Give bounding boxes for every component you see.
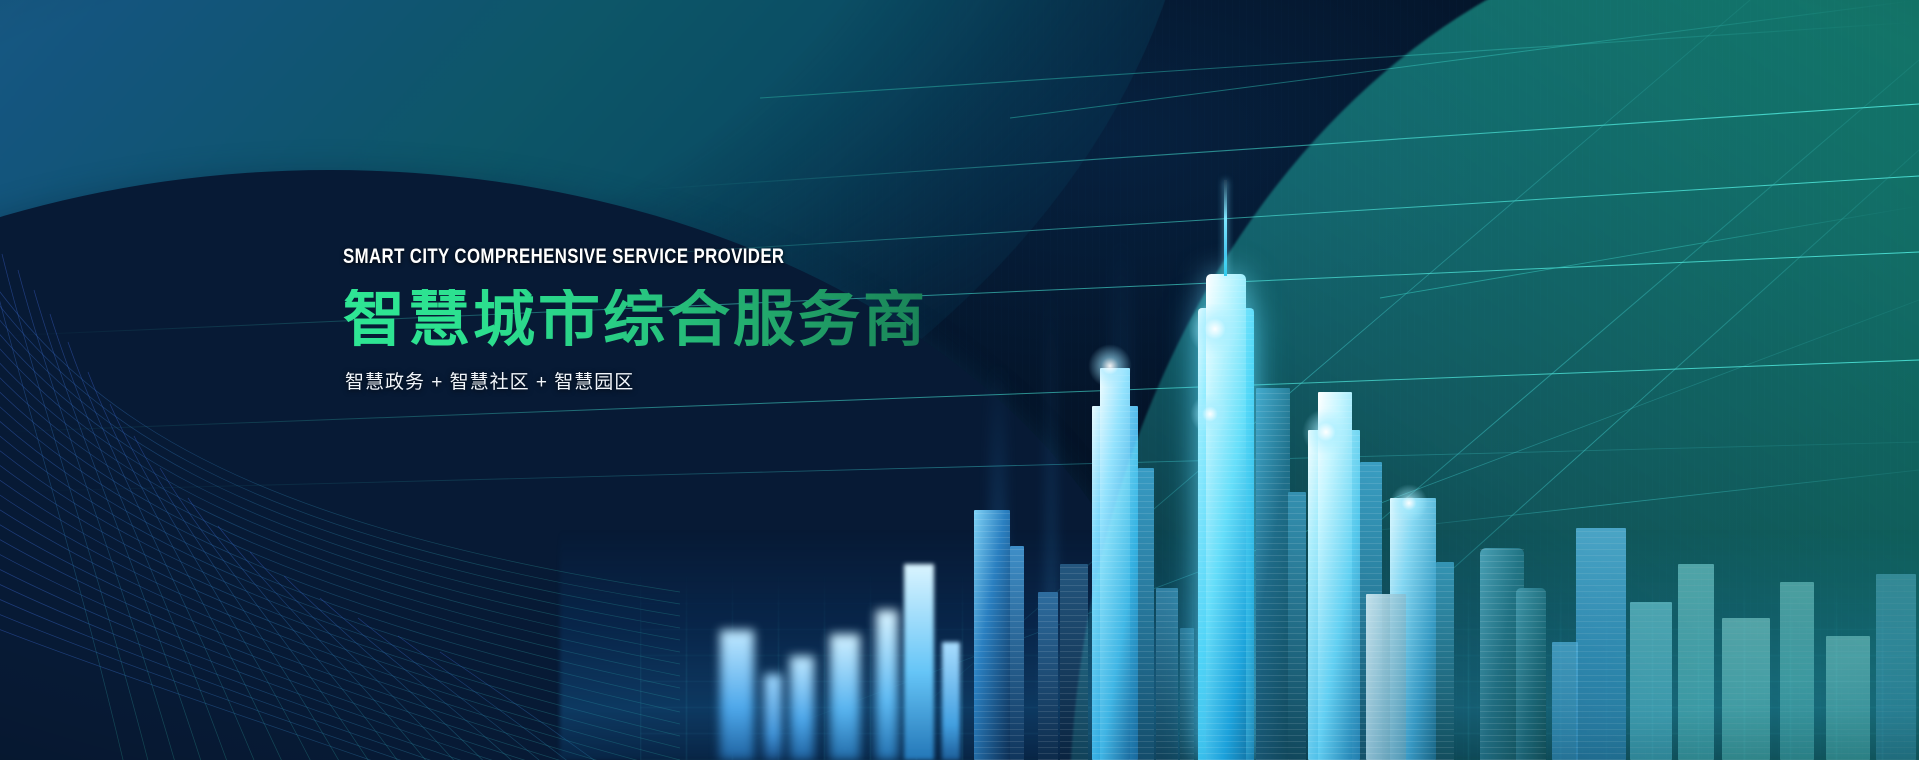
building-block — [974, 510, 1010, 760]
hero-subline-services: 智慧政务 + 智慧社区 + 智慧园区 — [345, 373, 928, 392]
building-block — [942, 642, 960, 760]
building-block — [764, 674, 782, 760]
hero-text-block: SMART CITY COMPREHENSIVE SERVICE PROVIDE… — [343, 246, 928, 392]
building-block — [790, 656, 814, 760]
building-block — [1038, 592, 1058, 760]
building-block — [830, 634, 860, 760]
smart-city-hero-banner: SMART CITY COMPREHENSIVE SERVICE PROVIDE… — [0, 0, 1919, 760]
hero-headline-chinese: 智慧城市综合服务商 — [343, 289, 928, 351]
building-block — [720, 630, 754, 760]
building-block — [876, 610, 898, 760]
hero-eyebrow-english: SMART CITY COMPREHENSIVE SERVICE PROVIDE… — [343, 246, 811, 267]
building-block — [1010, 546, 1024, 760]
building-block — [904, 564, 934, 760]
